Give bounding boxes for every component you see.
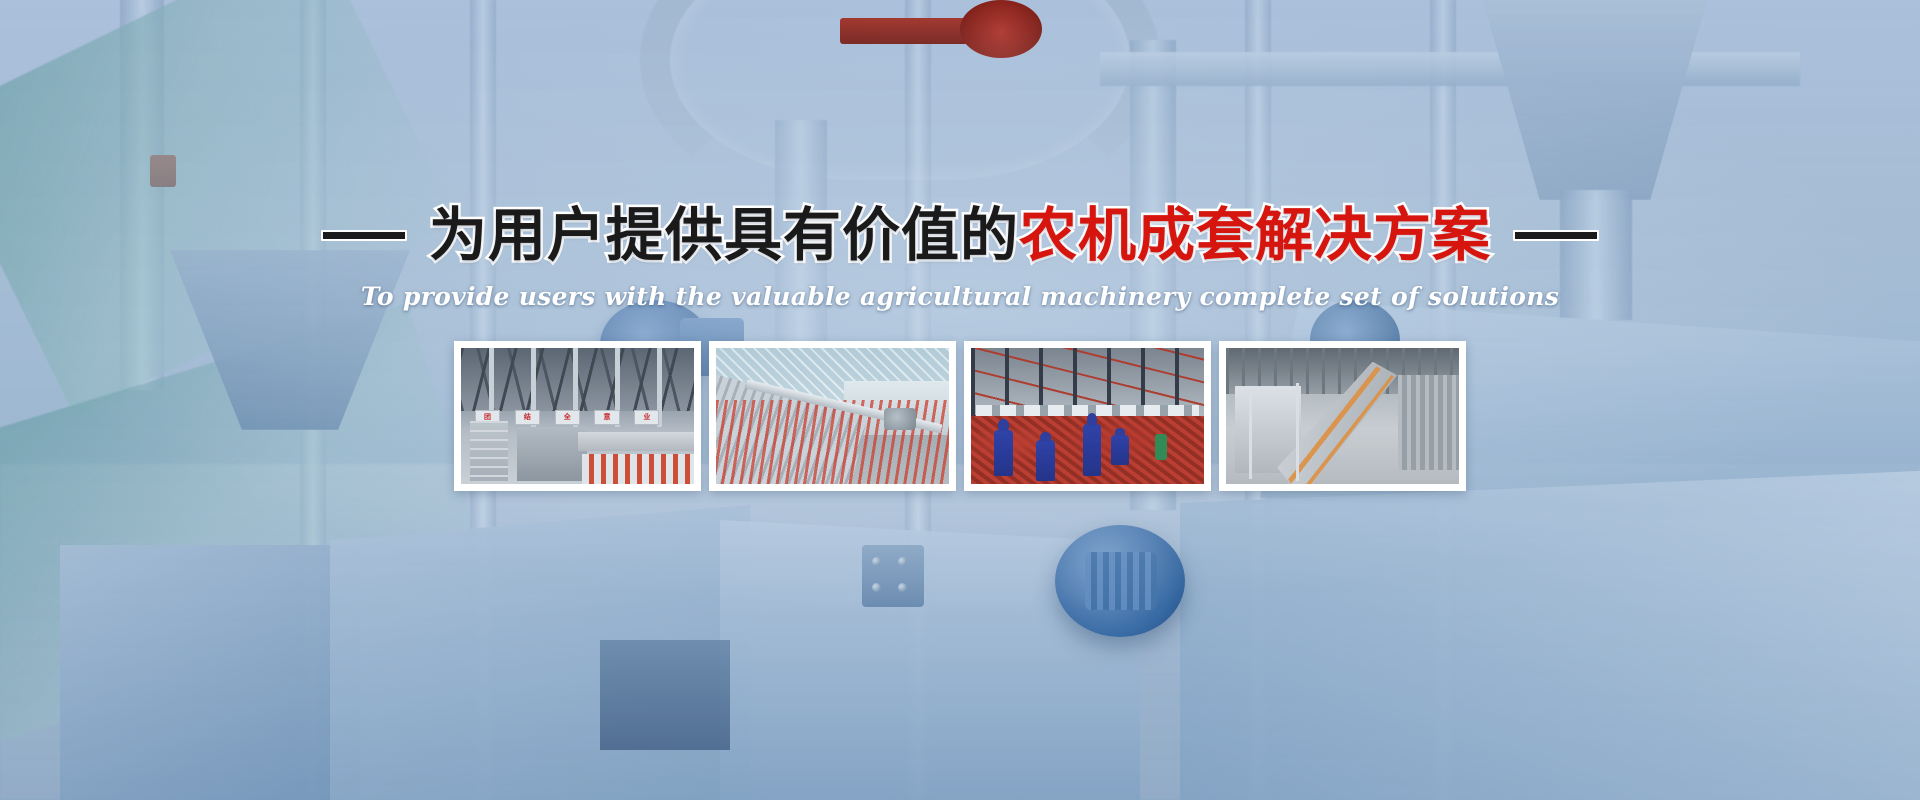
- headline: 为用户提供具有价值的农机成套解决方案: [321, 206, 1599, 264]
- headline-rule-right: [1513, 230, 1599, 241]
- thumbnail-conveyor-drying-line[interactable]: [709, 341, 956, 491]
- hero-banner: 为用户提供具有价值的农机成套解决方案 To provide users with…: [0, 0, 1920, 800]
- thumbnail-workers-spreading-chili[interactable]: [964, 341, 1211, 491]
- thumbnail-image: [716, 348, 949, 484]
- thumbnail-factory-production-line[interactable]: 团结 全意业: [454, 341, 701, 491]
- thumbnail-image: 团结 全意业: [461, 348, 694, 484]
- thumbnail-image: [1226, 348, 1459, 484]
- thumbnail-strip: 团结 全意业: [454, 341, 1466, 491]
- thumbnail-bucket-elevator-onions[interactable]: [1219, 341, 1466, 491]
- banner-content: 为用户提供具有价值的农机成套解决方案 To provide users with…: [0, 0, 1920, 800]
- thumbnail-image: [971, 348, 1204, 484]
- headline-text: 为用户提供具有价值的农机成套解决方案: [429, 206, 1491, 264]
- headline-plain: 为用户提供具有价值的: [429, 201, 1019, 269]
- headline-rule-left: [321, 230, 407, 241]
- subtitle: To provide users with the valuable agric…: [361, 282, 1559, 311]
- headline-emphasis: 农机成套解决方案: [1019, 201, 1491, 269]
